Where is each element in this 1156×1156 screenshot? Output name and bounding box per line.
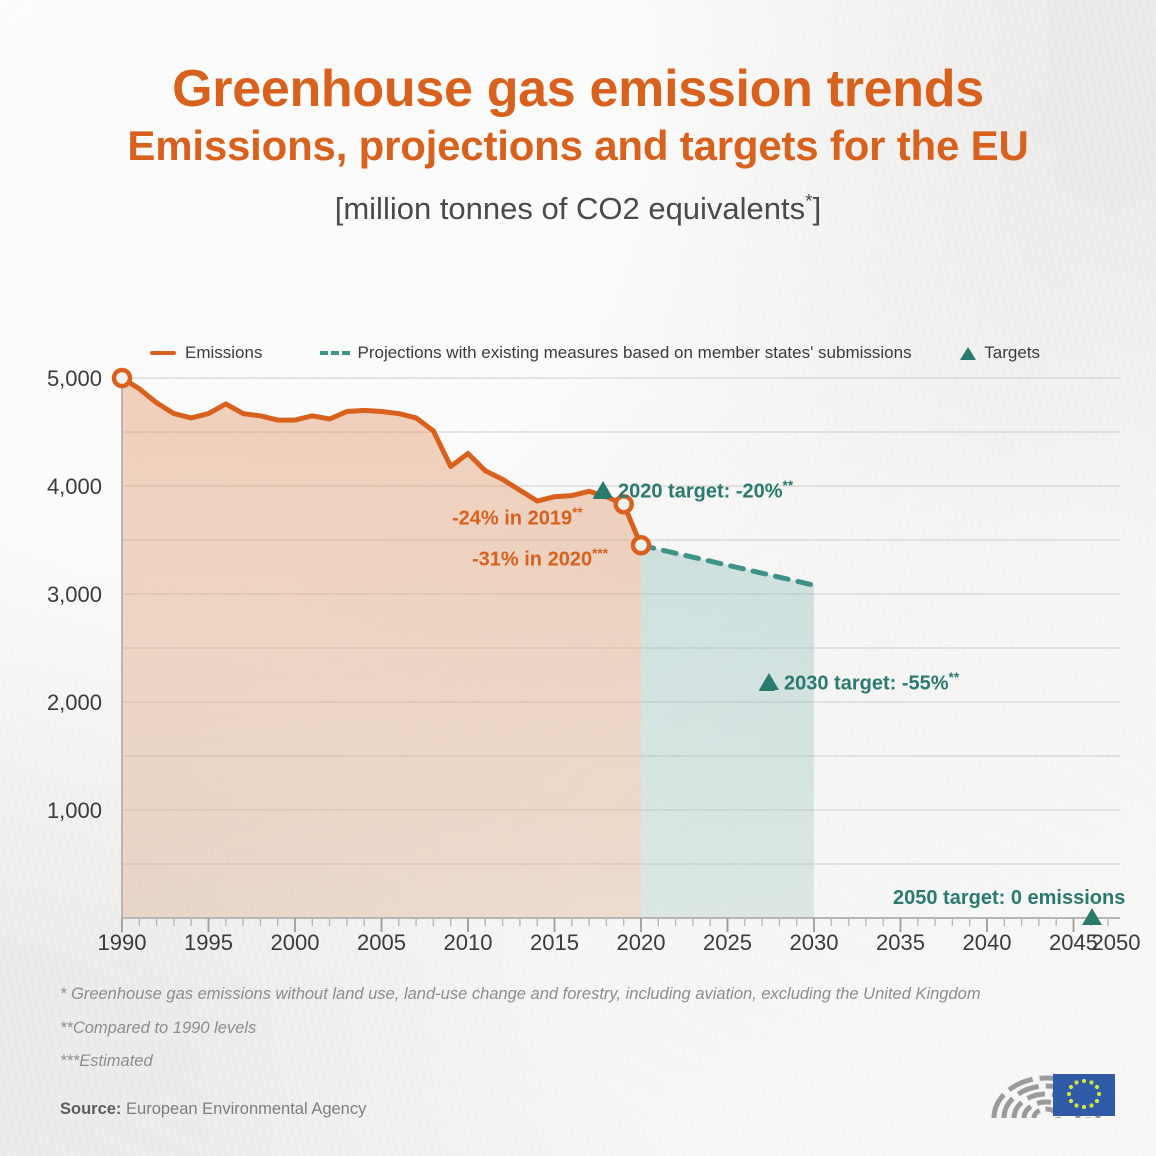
- eu-flag-icon: [1053, 1074, 1115, 1116]
- target-label-2050: 2050 target: 0 emissions: [893, 887, 1125, 910]
- x-tick-2035: 2035: [861, 930, 941, 956]
- x-tick-2050: 2050: [1076, 930, 1156, 956]
- source-line: Source: European Environmental Agency: [60, 1100, 366, 1119]
- european-parliament-logo: [980, 1052, 1146, 1128]
- target-label-2030-text: 2030 target: -55%: [784, 673, 949, 695]
- y-tick-4000: 4,000: [10, 474, 102, 500]
- annotation-2020-text: -31% in 2020: [472, 549, 592, 571]
- target-label-2020: 2020 target: -20%**: [593, 478, 793, 504]
- x-tick-2025: 2025: [688, 930, 768, 956]
- x-tick-2020: 2020: [601, 930, 681, 956]
- data-marker-2020[interactable]: [633, 537, 649, 553]
- footnotes: * Greenhouse gas emissions without land …: [60, 986, 981, 1087]
- x-tick-2000: 2000: [255, 930, 335, 956]
- x-axis-minor-ticks: [139, 918, 1108, 926]
- x-tick-2005: 2005: [342, 930, 422, 956]
- footnote-1: * Greenhouse gas emissions without land …: [60, 986, 981, 1003]
- footnote-3: ***Estimated: [60, 1053, 981, 1070]
- target-2020-triangle-icon: [593, 486, 609, 499]
- x-tick-2040: 2040: [947, 930, 1027, 956]
- footnote-2: **Compared to 1990 levels: [60, 1020, 981, 1037]
- target-label-2020-marker: **: [783, 478, 794, 493]
- target-label-2030-marker: **: [949, 670, 960, 685]
- annotation-2019-text: -24% in 2019: [452, 508, 572, 530]
- x-tick-1990: 1990: [82, 930, 162, 956]
- x-tick-2010: 2010: [428, 930, 508, 956]
- x-tick-2030: 2030: [774, 930, 854, 956]
- y-tick-3000: 3,000: [10, 582, 102, 608]
- annotation-2020: -31% in 2020***: [472, 546, 608, 572]
- annotation-2020-marker: ***: [592, 546, 608, 561]
- emissions-area-fill: [122, 378, 641, 918]
- source-label: Source:: [60, 1100, 121, 1118]
- projection-area-fill: [641, 545, 814, 918]
- target-label-2020-text: 2020 target: -20%: [618, 481, 783, 503]
- y-tick-5000: 5,000: [10, 366, 102, 392]
- data-marker-1990[interactable]: [114, 370, 130, 386]
- annotation-2019: -24% in 2019**: [452, 505, 583, 531]
- x-tick-1995: 1995: [169, 930, 249, 956]
- y-tick-1000: 1,000: [10, 798, 102, 824]
- target-2030-triangle-icon: [759, 678, 775, 691]
- emissions-chart: [0, 0, 1156, 1156]
- y-tick-2000: 2,000: [10, 690, 102, 716]
- annotation-2019-marker: **: [572, 505, 583, 520]
- target-marker-2050-icon[interactable]: [1082, 908, 1102, 925]
- x-tick-2015: 2015: [515, 930, 595, 956]
- target-label-2030: 2030 target: -55%**: [759, 670, 959, 696]
- source-value: European Environmental Agency: [126, 1100, 366, 1118]
